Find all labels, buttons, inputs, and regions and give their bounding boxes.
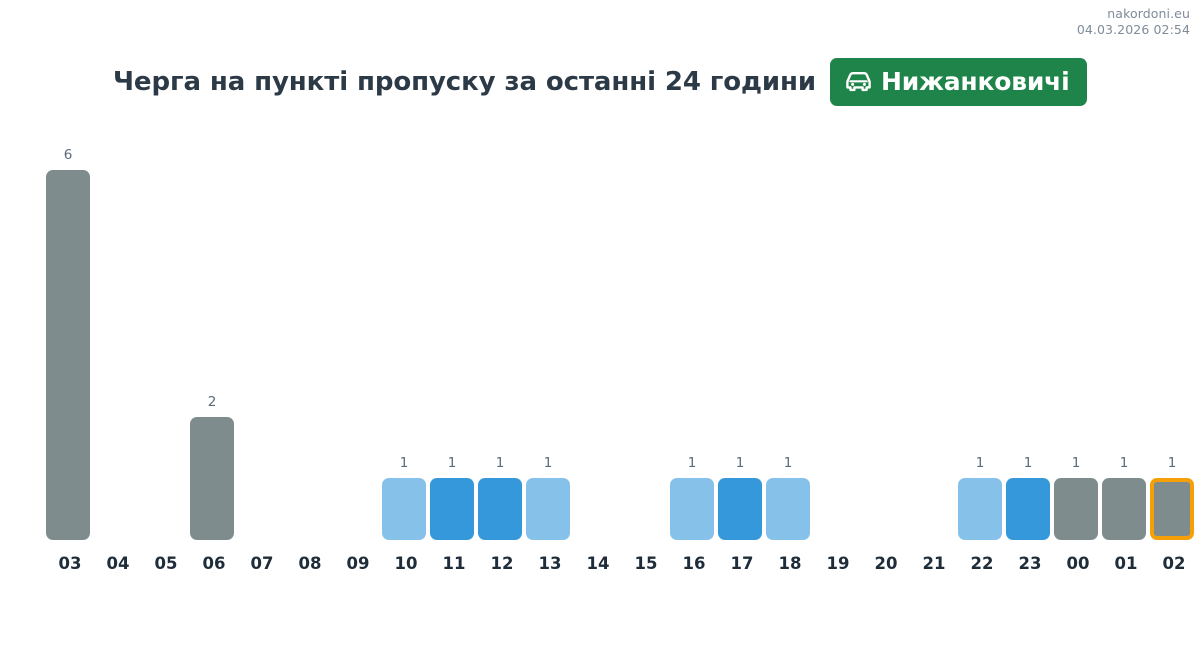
x-tick-02: 02: [1150, 554, 1198, 573]
bar-value-02: 1: [1150, 455, 1194, 471]
page-meta: nakordoni.eu 04.03.2026 02:54: [1077, 6, 1190, 37]
x-tick-16: 16: [670, 554, 718, 573]
bar-column-05[interactable]: [142, 130, 190, 540]
bar-column-07[interactable]: [238, 130, 286, 540]
x-tick-21: 21: [910, 554, 958, 573]
bar-column-17[interactable]: 1: [718, 130, 766, 540]
bar-column-01[interactable]: 1: [1102, 130, 1150, 540]
bar-column-12[interactable]: 1: [478, 130, 526, 540]
bar-column-04[interactable]: [94, 130, 142, 540]
chart-plot-area: 62111111111111: [46, 130, 1190, 540]
x-tick-20: 20: [862, 554, 910, 573]
x-tick-00: 00: [1054, 554, 1102, 573]
title-row: Черга на пункті пропуску за останні 24 г…: [113, 58, 1200, 106]
bar-01[interactable]: [1102, 478, 1146, 540]
bar-column-16[interactable]: 1: [670, 130, 718, 540]
x-tick-17: 17: [718, 554, 766, 573]
bar-22[interactable]: [958, 478, 1002, 540]
bar-03[interactable]: [46, 170, 90, 540]
bar-column-22[interactable]: 1: [958, 130, 1006, 540]
site-name: nakordoni.eu: [1077, 6, 1190, 22]
bar-column-09[interactable]: [334, 130, 382, 540]
x-tick-23: 23: [1006, 554, 1054, 573]
bar-value-17: 1: [718, 455, 762, 471]
bar-column-06[interactable]: 2: [190, 130, 238, 540]
x-tick-10: 10: [382, 554, 430, 573]
bar-value-12: 1: [478, 455, 522, 471]
bar-column-03[interactable]: 6: [46, 130, 94, 540]
bar-value-13: 1: [526, 455, 570, 471]
bar-column-02[interactable]: 1: [1150, 130, 1198, 540]
bar-column-23[interactable]: 1: [1006, 130, 1054, 540]
bar-18[interactable]: [766, 478, 810, 540]
bar-column-14[interactable]: [574, 130, 622, 540]
x-tick-04: 04: [94, 554, 142, 573]
x-tick-15: 15: [622, 554, 670, 573]
bar-column-18[interactable]: 1: [766, 130, 814, 540]
x-tick-11: 11: [430, 554, 478, 573]
x-tick-09: 09: [334, 554, 382, 573]
bar-13[interactable]: [526, 478, 570, 540]
x-tick-03: 03: [46, 554, 94, 573]
x-tick-05: 05: [142, 554, 190, 573]
chart-x-axis: 0304050607080910111213141516171819202122…: [46, 554, 1190, 584]
bar-23[interactable]: [1006, 478, 1050, 540]
bar-column-21[interactable]: [910, 130, 958, 540]
bar-value-00: 1: [1054, 455, 1098, 471]
bar-value-23: 1: [1006, 455, 1050, 471]
bar-17[interactable]: [718, 478, 762, 540]
bar-02[interactable]: [1150, 478, 1194, 540]
x-tick-18: 18: [766, 554, 814, 573]
checkpoint-badge[interactable]: Нижанковичі: [830, 58, 1086, 106]
bar-value-06: 2: [190, 394, 234, 410]
bar-value-18: 1: [766, 455, 810, 471]
bar-column-08[interactable]: [286, 130, 334, 540]
bar-value-11: 1: [430, 455, 474, 471]
x-tick-06: 06: [190, 554, 238, 573]
bar-value-22: 1: [958, 455, 1002, 471]
x-tick-01: 01: [1102, 554, 1150, 573]
bar-00[interactable]: [1054, 478, 1098, 540]
bar-column-00[interactable]: 1: [1054, 130, 1102, 540]
bar-12[interactable]: [478, 478, 522, 540]
page-title: Черга на пункті пропуску за останні 24 г…: [113, 67, 816, 97]
x-tick-14: 14: [574, 554, 622, 573]
bar-column-19[interactable]: [814, 130, 862, 540]
bar-value-03: 6: [46, 147, 90, 163]
bar-10[interactable]: [382, 478, 426, 540]
bar-value-10: 1: [382, 455, 426, 471]
queue-bar-chart: 62111111111111 0304050607080910111213141…: [46, 130, 1190, 610]
bar-16[interactable]: [670, 478, 714, 540]
bar-value-01: 1: [1102, 455, 1146, 471]
x-tick-12: 12: [478, 554, 526, 573]
checkpoint-name: Нижанковичі: [881, 67, 1069, 96]
bar-column-13[interactable]: 1: [526, 130, 574, 540]
bar-column-20[interactable]: [862, 130, 910, 540]
x-tick-07: 07: [238, 554, 286, 573]
x-tick-08: 08: [286, 554, 334, 573]
x-tick-22: 22: [958, 554, 1006, 573]
bar-column-11[interactable]: 1: [430, 130, 478, 540]
car-icon: [845, 71, 872, 92]
bar-value-16: 1: [670, 455, 714, 471]
timestamp: 04.03.2026 02:54: [1077, 22, 1190, 38]
bar-column-10[interactable]: 1: [382, 130, 430, 540]
bar-11[interactable]: [430, 478, 474, 540]
x-tick-19: 19: [814, 554, 862, 573]
bar-column-15[interactable]: [622, 130, 670, 540]
x-tick-13: 13: [526, 554, 574, 573]
bar-06[interactable]: [190, 417, 234, 540]
